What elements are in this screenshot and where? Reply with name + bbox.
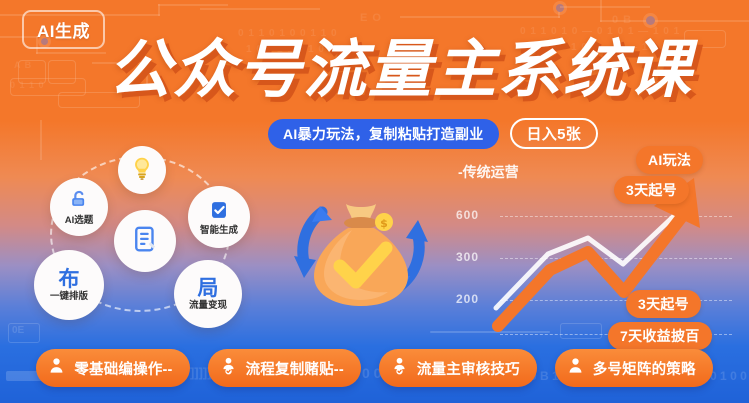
page-title: 公众号流量主系统课 bbox=[108, 38, 693, 101]
diagram-node-ai-topic: AI选题 bbox=[50, 178, 108, 236]
ai-generated-chip: AI生成 bbox=[22, 10, 105, 49]
course-promo-poster: A B 0 1 1 0 0 1 1 0 1 0 0 1 1 0 1 0 0 1 … bbox=[0, 0, 749, 403]
lock-icon bbox=[68, 189, 90, 216]
chart-tag-3day-bottom: 3天起号 bbox=[626, 290, 701, 318]
feature-badge-label: 零基础编操作-- bbox=[74, 358, 172, 379]
diagram-node-label: AI选题 bbox=[65, 216, 94, 226]
user-check-icon bbox=[390, 356, 409, 380]
subtitle-highlight-badge: 日入5张 bbox=[510, 118, 599, 149]
diagram-node-glyph: 局 bbox=[198, 278, 219, 299]
diagram-node-label: 智能生成 bbox=[200, 226, 238, 236]
diagram-node-label: 流量变现 bbox=[189, 301, 227, 311]
diagram-node-smart-gen: 智能生成 bbox=[188, 186, 250, 248]
money-bag-illustration: $ bbox=[276, 182, 446, 316]
user-icon bbox=[47, 356, 66, 380]
diagram-node-layout: 布 一键排版 bbox=[34, 250, 104, 320]
feature-badge-label: 流程复制赌贴-- bbox=[246, 358, 344, 379]
diagram-node-glyph: 布 bbox=[59, 269, 80, 290]
diagram-node-idea bbox=[118, 146, 166, 194]
diagram-node-editor bbox=[114, 210, 176, 272]
growth-chart: -传统运营 600 300 200 AI玩法 3天起号 3天起号 7天收益披百 bbox=[448, 150, 748, 340]
workflow-diagram: AI选题 智能生成 bbox=[22, 146, 274, 328]
feature-badge-copy-process[interactable]: 流程复制赌贴-- bbox=[208, 349, 361, 387]
feature-badge-multi-account[interactable]: 多号矩阵的策略 bbox=[555, 349, 713, 387]
chart-plot-area bbox=[448, 150, 748, 340]
chart-tag-ai-method: AI玩法 bbox=[636, 146, 703, 174]
subtitle-row: AI暴力玩法，复制粘贴打造副业 日入5张 bbox=[268, 118, 598, 149]
feature-badge-row: 零基础编操作-- 流程复制赌贴-- bbox=[0, 349, 749, 387]
diagram-node-label: 一键排版 bbox=[50, 292, 88, 302]
feature-badge-label: 流量主审核技巧 bbox=[417, 358, 520, 379]
subtitle-main-badge: AI暴力玩法，复制粘贴打造副业 bbox=[268, 119, 499, 149]
doc-check-icon bbox=[208, 199, 230, 226]
chart-tag-3day-top: 3天起号 bbox=[614, 176, 689, 204]
document-icon bbox=[130, 224, 160, 259]
diagram-node-monetize: 局 流量变现 bbox=[174, 260, 242, 328]
bulb-icon bbox=[129, 155, 155, 186]
chart-tag-7day-income: 7天收益披百 bbox=[608, 322, 712, 350]
feature-badge-label: 多号矩阵的策略 bbox=[593, 358, 696, 379]
feature-badge-zero-base[interactable]: 零基础编操作-- bbox=[36, 349, 189, 387]
user-icon bbox=[566, 356, 585, 380]
user-check-icon bbox=[219, 356, 238, 380]
svg-text:$: $ bbox=[380, 217, 388, 230]
feature-badge-review-skill[interactable]: 流量主审核技巧 bbox=[379, 349, 537, 387]
